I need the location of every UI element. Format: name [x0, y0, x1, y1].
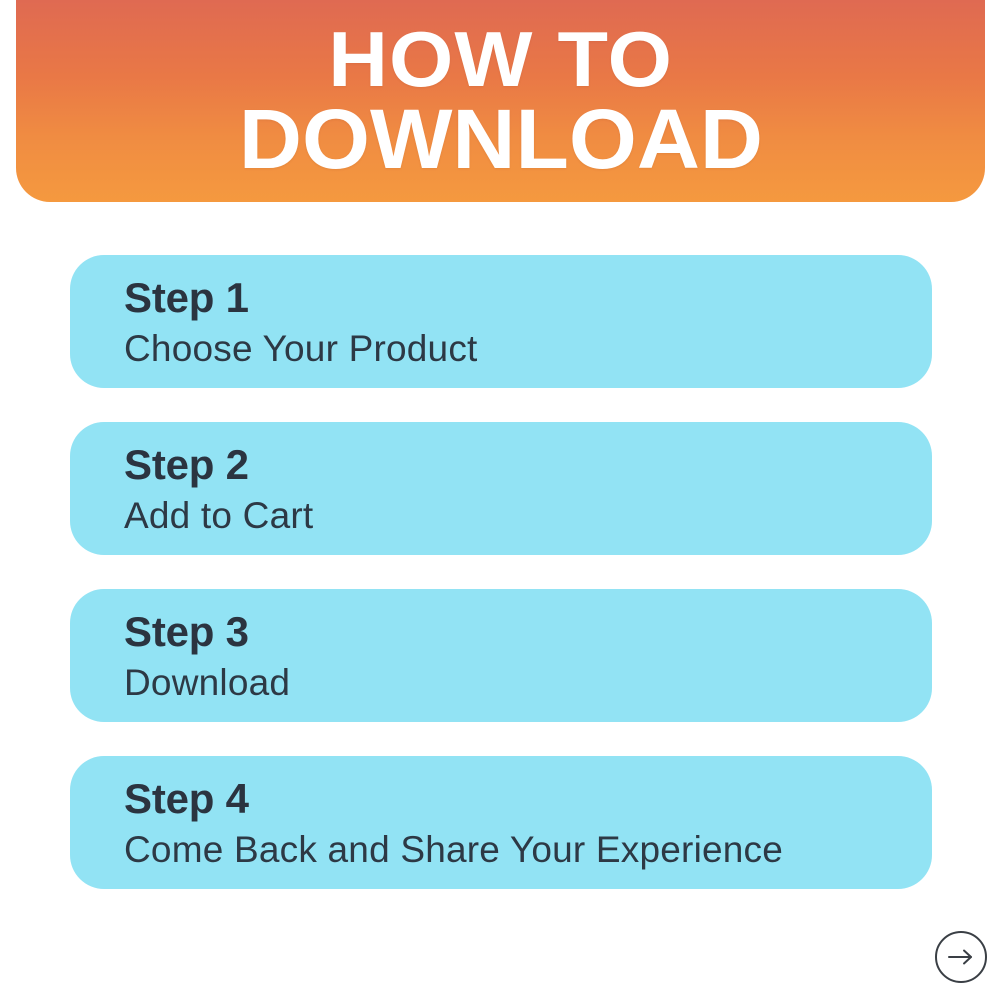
step-heading: Step 3 — [124, 611, 932, 654]
arrow-right-icon — [946, 948, 976, 966]
step-subtitle: Come Back and Share Your Experience — [124, 829, 932, 870]
step-heading: Step 2 — [124, 444, 932, 487]
header-title-line-1: HOW TO — [328, 22, 673, 97]
next-button[interactable] — [935, 931, 987, 983]
step-subtitle: Add to Cart — [124, 495, 932, 536]
steps-list: Step 1 Choose Your Product Step 2 Add to… — [70, 255, 932, 889]
header-title-line-2: DOWNLOAD — [238, 99, 762, 180]
step-subtitle: Download — [124, 662, 932, 703]
step-heading: Step 1 — [124, 277, 932, 320]
poster-canvas: HOW TO DOWNLOAD Step 1 Choose Your Produ… — [0, 0, 1000, 1000]
step-card-3[interactable]: Step 3 Download — [70, 589, 932, 722]
header-banner: HOW TO DOWNLOAD — [16, 0, 985, 202]
step-subtitle: Choose Your Product — [124, 328, 932, 369]
step-card-2[interactable]: Step 2 Add to Cart — [70, 422, 932, 555]
step-card-1[interactable]: Step 1 Choose Your Product — [70, 255, 932, 388]
step-heading: Step 4 — [124, 778, 932, 821]
step-card-4[interactable]: Step 4 Come Back and Share Your Experien… — [70, 756, 932, 889]
